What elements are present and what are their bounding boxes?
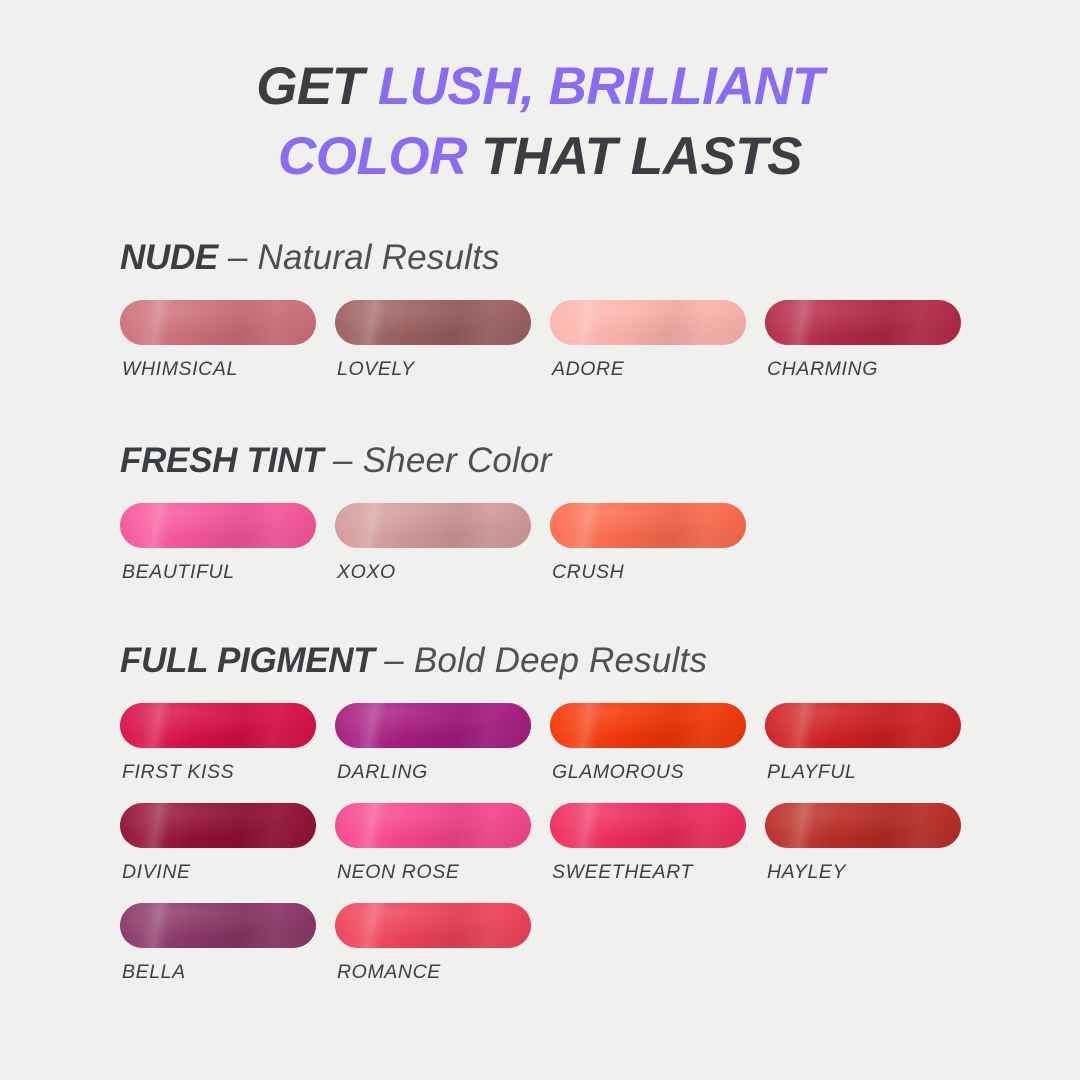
section-full-pigment-name: FULL PIGMENT xyxy=(120,641,374,680)
swatch-cell[interactable]: DIVINE xyxy=(120,803,335,903)
swatch-label: LOVELY xyxy=(337,358,415,381)
swatch-label: FIRST KISS xyxy=(122,761,234,784)
swatch-chip[interactable] xyxy=(765,300,961,345)
swatch-chip[interactable] xyxy=(335,903,531,948)
swatch-chip[interactable] xyxy=(550,503,746,548)
swatch-label: ADORE xyxy=(552,358,624,381)
swatch-cell[interactable]: LOVELY xyxy=(335,300,550,400)
headline-line-1-dark: GET xyxy=(256,57,378,116)
swatch-label: CRUSH xyxy=(552,561,624,584)
section-nude: NUDE – Natural Results WHIMSICALLOVELYAD… xyxy=(120,240,1020,400)
swatch-cell[interactable]: WHIMSICAL xyxy=(120,300,335,400)
swatch-label: SWEETHEART xyxy=(552,861,693,884)
swatch-cell[interactable]: BEAUTIFUL xyxy=(120,503,335,603)
swatch-chip[interactable] xyxy=(765,803,961,848)
swatch-chip[interactable] xyxy=(550,703,746,748)
section-fresh-tint: FRESH TINT – Sheer Color BEAUTIFULXOXOCR… xyxy=(120,443,1020,603)
section-fresh-tint-header: FRESH TINT – Sheer Color xyxy=(120,443,1020,478)
headline-line-2-accent: COLOR xyxy=(278,127,467,186)
swatch-cell[interactable]: GLAMOROUS xyxy=(550,703,765,803)
swatch-chip[interactable] xyxy=(120,703,316,748)
section-nude-header: NUDE – Natural Results xyxy=(120,240,1020,275)
swatch-label: ROMANCE xyxy=(337,961,441,984)
swatch-cell[interactable]: FIRST KISS xyxy=(120,703,335,803)
section-nude-subtitle: – Natural Results xyxy=(218,238,500,277)
section-full-pigment: FULL PIGMENT – Bold Deep Results FIRST K… xyxy=(120,643,1020,1003)
swatch-cell[interactable]: ROMANCE xyxy=(335,903,550,1003)
swatch-cell[interactable]: DARLING xyxy=(335,703,550,803)
swatch-cell[interactable]: NEON ROSE xyxy=(335,803,550,903)
swatch-label: HAYLEY xyxy=(767,861,846,884)
swatch-cell[interactable]: BELLA xyxy=(120,903,335,1003)
swatch-cell[interactable]: PLAYFUL xyxy=(765,703,980,803)
headline-line-2-dark: THAT LASTS xyxy=(467,127,802,186)
swatch-chip[interactable] xyxy=(550,300,746,345)
page-title: GET LUSH, BRILLIANT COLOR THAT LASTS xyxy=(0,52,1080,193)
swatch-label: NEON ROSE xyxy=(337,861,459,884)
swatch-chip[interactable] xyxy=(120,300,316,345)
swatch-label: BEAUTIFUL xyxy=(122,561,235,584)
swatch-chip[interactable] xyxy=(120,803,316,848)
swatch-chip[interactable] xyxy=(335,503,531,548)
swatch-label: CHARMING xyxy=(767,358,878,381)
swatch-chip[interactable] xyxy=(765,703,961,748)
headline-line-2: COLOR THAT LASTS xyxy=(0,122,1080,192)
swatch-grid-fresh-tint: BEAUTIFULXOXOCRUSH xyxy=(120,503,1020,603)
swatch-label: WHIMSICAL xyxy=(122,358,238,381)
lipstick-shade-chart: GET LUSH, BRILLIANT COLOR THAT LASTS NUD… xyxy=(0,0,1080,1080)
swatch-cell[interactable]: HAYLEY xyxy=(765,803,980,903)
section-nude-name: NUDE xyxy=(120,238,218,277)
swatch-cell[interactable]: CRUSH xyxy=(550,503,765,603)
swatch-chip[interactable] xyxy=(335,703,531,748)
swatch-label: DIVINE xyxy=(122,861,191,884)
swatch-label: GLAMOROUS xyxy=(552,761,684,784)
section-full-pigment-subtitle: – Bold Deep Results xyxy=(374,641,707,680)
swatch-chip[interactable] xyxy=(335,300,531,345)
swatch-chip[interactable] xyxy=(335,803,531,848)
swatch-chip[interactable] xyxy=(120,903,316,948)
swatch-cell[interactable]: XOXO xyxy=(335,503,550,603)
section-full-pigment-header: FULL PIGMENT – Bold Deep Results xyxy=(120,643,1020,678)
swatch-label: PLAYFUL xyxy=(767,761,856,784)
swatch-cell[interactable]: CHARMING xyxy=(765,300,980,400)
section-fresh-tint-name: FRESH TINT xyxy=(120,441,323,480)
swatch-cell[interactable]: SWEETHEART xyxy=(550,803,765,903)
swatch-chip[interactable] xyxy=(550,803,746,848)
swatch-label: BELLA xyxy=(122,961,186,984)
section-fresh-tint-subtitle: – Sheer Color xyxy=(323,441,551,480)
swatch-grid-nude: WHIMSICALLOVELYADORECHARMING xyxy=(120,300,1020,400)
swatch-label: DARLING xyxy=(337,761,428,784)
headline-line-1: GET LUSH, BRILLIANT xyxy=(0,52,1080,122)
swatch-grid-full-pigment: FIRST KISSDARLINGGLAMOROUSPLAYFULDIVINEN… xyxy=(120,703,1020,1003)
swatch-cell[interactable]: ADORE xyxy=(550,300,765,400)
headline-line-1-accent: LUSH, BRILLIANT xyxy=(378,57,824,116)
swatch-label: XOXO xyxy=(337,561,396,584)
swatch-chip[interactable] xyxy=(120,503,316,548)
